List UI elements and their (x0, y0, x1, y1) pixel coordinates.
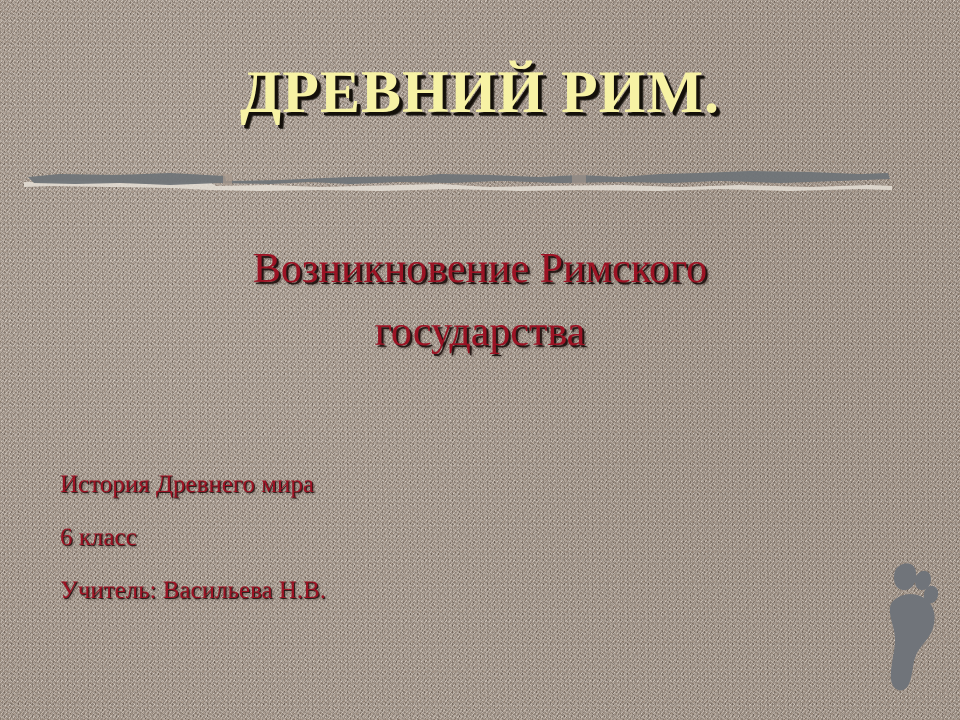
slide-subtitle-line-1: Возникновение Римского (90, 238, 870, 301)
slide-body-text: История Древнего мира 6 класс Учитель: В… (60, 472, 700, 603)
body-line-course: История Древнего мира (60, 472, 700, 497)
body-line-grade: 6 класс (60, 525, 700, 550)
divider-notch-mid (572, 173, 586, 184)
footprint-sole (890, 594, 935, 690)
presentation-slide: ДРЕВНИЙ РИМ. Возникновение Римского госу… (0, 0, 960, 720)
slide-subtitle: Возникновение Римского государства (90, 238, 870, 364)
divider-notch-left (223, 174, 232, 185)
body-line-teacher: Учитель: Васильева Н.В. (60, 578, 700, 603)
bare-footprint-icon (884, 558, 946, 694)
footprint-toe-1 (894, 563, 916, 590)
slide-subtitle-line-2: государства (90, 301, 870, 364)
divider-band (28, 171, 890, 185)
slide-title: ДРЕВНИЙ РИМ. (0, 62, 960, 122)
stone-divider-rule (20, 165, 900, 195)
